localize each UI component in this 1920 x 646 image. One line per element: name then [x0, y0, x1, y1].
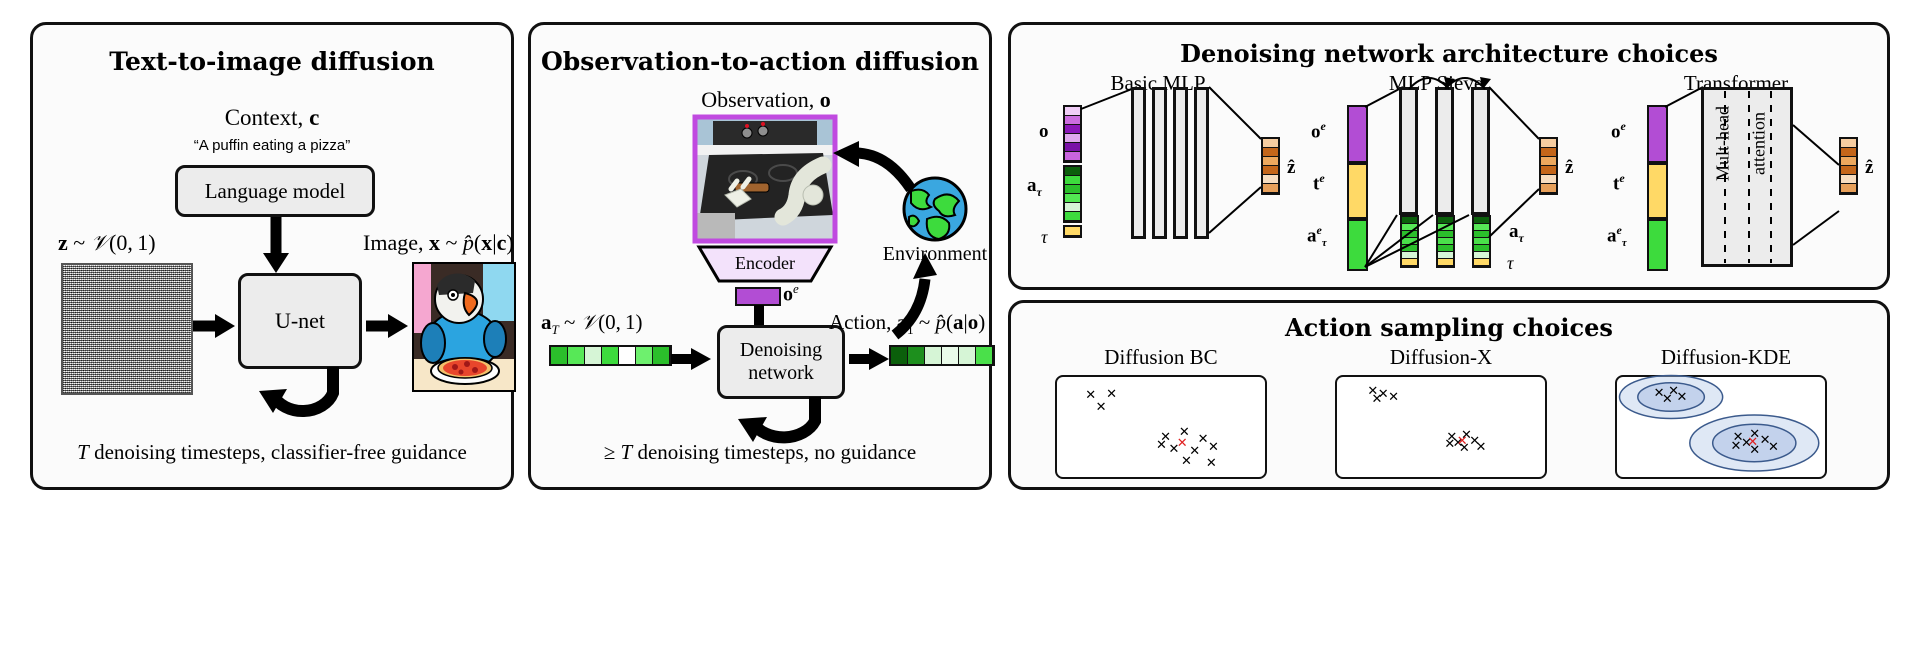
noisy-action-strip [549, 345, 672, 366]
vector-cell [908, 347, 925, 364]
vector-cell [1263, 148, 1278, 157]
sampling-name-x: Diffusion-X [1311, 345, 1571, 370]
panel-title-architectures: Denoising network architecture choices [1011, 39, 1887, 68]
sample-marker: ✕ [1662, 393, 1673, 406]
basic-mlp-out-edges [1207, 87, 1265, 197]
sieve-output-zhat [1539, 137, 1558, 195]
denoising-network-box: Denoisingnetwork [717, 325, 845, 399]
panel1-caption: T denoising timesteps, classifier-free g… [33, 440, 511, 465]
denoising-network-label: Denoisingnetwork [740, 339, 822, 385]
noise-image [61, 263, 193, 395]
figure-root: Text-to-image diffusion Context, c “A pu… [0, 0, 1920, 646]
basic-mlp-input-tau-label: τ [1041, 227, 1047, 248]
basic-mlp-input-o-label: o [1039, 121, 1049, 143]
vector-cell [1065, 116, 1080, 125]
image-output-label: Image, x ~ p̂(x|c) [363, 230, 514, 256]
latent-noise-label: z ~ 𝒱(0, 1) [58, 230, 156, 256]
vector-cell [1541, 184, 1556, 193]
basic-mlp-input-a [1063, 165, 1082, 223]
vector-cell [585, 347, 602, 364]
vector-cell [1065, 107, 1080, 116]
unet-box: U-net [238, 273, 362, 369]
sample-marker: ✕ [1206, 457, 1217, 470]
sample-marker: ✕ [1106, 388, 1117, 401]
vector-cell [959, 347, 976, 364]
panel-title-obs-to-action: Observation-to-action diffusion [531, 47, 989, 76]
tf-output-label: ẑ [1865, 157, 1873, 179]
sample-marker: ✕ [1768, 441, 1779, 454]
vector-cell [568, 347, 585, 364]
vector-cell [653, 347, 670, 364]
vector-cell [1541, 148, 1556, 157]
basic-mlp-input-o [1063, 105, 1082, 163]
prompt-text: “A puffin eating a pizza” [33, 137, 511, 154]
vector-cell [891, 347, 908, 364]
panel-title-sampling: Action sampling choices [1011, 313, 1887, 342]
vector-cell [636, 347, 653, 364]
vector-cell [1065, 167, 1080, 176]
vector-cell [1541, 175, 1556, 184]
panel-text-to-image: Text-to-image diffusion Context, c “A pu… [30, 22, 514, 490]
vector-cell [1065, 176, 1080, 185]
mode-marker: ✕ [1747, 436, 1758, 449]
tf-input-te [1647, 163, 1668, 219]
basic-mlp-output-label: ẑ [1287, 157, 1295, 179]
tf-out-edges [1791, 125, 1843, 247]
sieve-input-te [1347, 163, 1368, 219]
sample-marker: ✕ [1676, 391, 1687, 404]
vector-cell [1065, 185, 1080, 194]
panel-obs-to-action: Observation-to-action diffusion Observat… [528, 22, 992, 490]
mode-marker: ✕ [1457, 435, 1468, 448]
vector-cell [976, 347, 993, 364]
observation-image [695, 117, 835, 241]
tf-input-ae-label: aeτ [1607, 223, 1627, 249]
sample-marker: ✕ [1731, 440, 1742, 453]
vector-cell [1541, 139, 1556, 148]
vector-cell [1263, 175, 1278, 184]
encoder-output-label: oe [783, 281, 799, 307]
panel-architectures: Denoising network architecture choices B… [1008, 22, 1890, 290]
basic-mlp-input-a-label: aτ [1027, 175, 1042, 200]
tf-block-text-2: attention [1749, 100, 1770, 188]
sieve-input-oe [1347, 105, 1368, 163]
panel-sampling: Action sampling choices Diffusion BC ✕✕✕… [1008, 300, 1890, 490]
scatter-bc: ✕✕✕✕✕✕✕✕✕✕✕✕✕ [1055, 375, 1267, 479]
tf-block-text-1: Mult-head [1713, 100, 1734, 188]
encoder-output-swatch [735, 287, 781, 306]
sample-marker: ✕ [1096, 401, 1107, 414]
sampling-name-bc: Diffusion BC [1031, 345, 1291, 370]
vector-cell [1841, 157, 1856, 166]
observation-label: Observation, o [651, 87, 881, 113]
vector-cell [551, 347, 568, 364]
sieve-output-label: ẑ [1565, 157, 1573, 179]
tf-input-oe-label: oe [1611, 119, 1626, 143]
basic-mlp-output-zhat [1261, 137, 1280, 195]
kde-density-contours [1617, 377, 1825, 477]
vector-cell [1841, 175, 1856, 184]
scatter-kde: ✕✕✕✕✕✕✕✕✕✕✕✕ [1615, 375, 1827, 479]
unet-label: U-net [275, 308, 325, 334]
tf-output-zhat [1839, 137, 1858, 195]
unet-loop-arrow [251, 365, 353, 433]
action-noise-label: aT ~ 𝒱(0, 1) [541, 310, 643, 338]
vector-cell [1065, 152, 1080, 161]
vector-cell [1841, 166, 1856, 175]
vector-cell [1065, 125, 1080, 134]
scatter-x: ✕✕✕✕✕✕✕✕✕✕✕✕ [1335, 375, 1547, 479]
vector-cell [925, 347, 942, 364]
vector-cell [1841, 184, 1856, 193]
vector-cell [1065, 143, 1080, 152]
arrow-lm-to-unet [261, 217, 291, 275]
sampling-name-kde: Diffusion-KDE [1591, 345, 1861, 370]
panel2-caption: ≥ T denoising timesteps, no guidance [531, 440, 989, 465]
sieve-input-ae-label: aeτ [1307, 223, 1327, 249]
arrow-denoiser-to-action [849, 347, 891, 371]
language-model-box: Language model [175, 165, 375, 217]
vector-cell [1541, 166, 1556, 175]
arrow-noise-to-unet [193, 313, 237, 339]
sample-marker: ✕ [1156, 439, 1167, 452]
vector-cell [1541, 157, 1556, 166]
sieve-side-label-a: aτ [1509, 221, 1524, 246]
tf-in-edges [1663, 87, 1705, 113]
arrow-noise-to-denoiser [671, 347, 713, 371]
sieve-input-te-label: te [1313, 171, 1325, 195]
vector-cell [1841, 139, 1856, 148]
panel-title-text-to-image: Text-to-image diffusion [33, 47, 511, 76]
vector-cell [1065, 134, 1080, 143]
sample-marker: ✕ [1085, 389, 1096, 402]
puffin-pizza-image [413, 263, 515, 391]
sieve-side-label-tau: τ [1507, 253, 1513, 274]
vector-cell [1263, 184, 1278, 193]
language-model-label: Language model [205, 179, 346, 204]
sample-marker: ✕ [1208, 441, 1219, 454]
sieve-inject-edges [1363, 213, 1513, 275]
arrow-action-to-env [885, 253, 945, 339]
vector-cell [1065, 194, 1080, 203]
vector-cell [1263, 166, 1278, 175]
sample-marker: ✕ [1476, 441, 1487, 454]
arrow-unet-to-image [366, 313, 410, 339]
arrow-env-to-observation [831, 141, 915, 197]
encoder-label: Encoder [699, 253, 831, 274]
basic-mlp-in-edges [1079, 87, 1139, 113]
vector-cell [1263, 139, 1278, 148]
vector-cell [1841, 148, 1856, 157]
sample-marker: ✕ [1181, 455, 1192, 468]
vector-cell [1065, 227, 1080, 236]
vector-cell [1065, 212, 1080, 221]
vector-cell [1065, 203, 1080, 212]
mode-marker: ✕ [1177, 437, 1188, 450]
vector-cell [619, 347, 636, 364]
vector-cell [602, 347, 619, 364]
tf-input-oe [1647, 105, 1668, 163]
sieve-out-edges [1487, 87, 1543, 207]
sample-marker: ✕ [1388, 391, 1399, 404]
sieve-input-oe-label: oe [1311, 119, 1326, 143]
basic-mlp-input-t [1063, 225, 1082, 238]
context-label: Context, c [33, 105, 511, 131]
sample-marker: ✕ [1444, 438, 1455, 451]
sample-marker: ✕ [1372, 393, 1383, 406]
tf-input-te-label: te [1613, 171, 1625, 195]
tf-input-ae [1647, 219, 1668, 271]
clean-action-strip [889, 345, 995, 366]
vector-cell [942, 347, 959, 364]
vector-cell [1263, 157, 1278, 166]
